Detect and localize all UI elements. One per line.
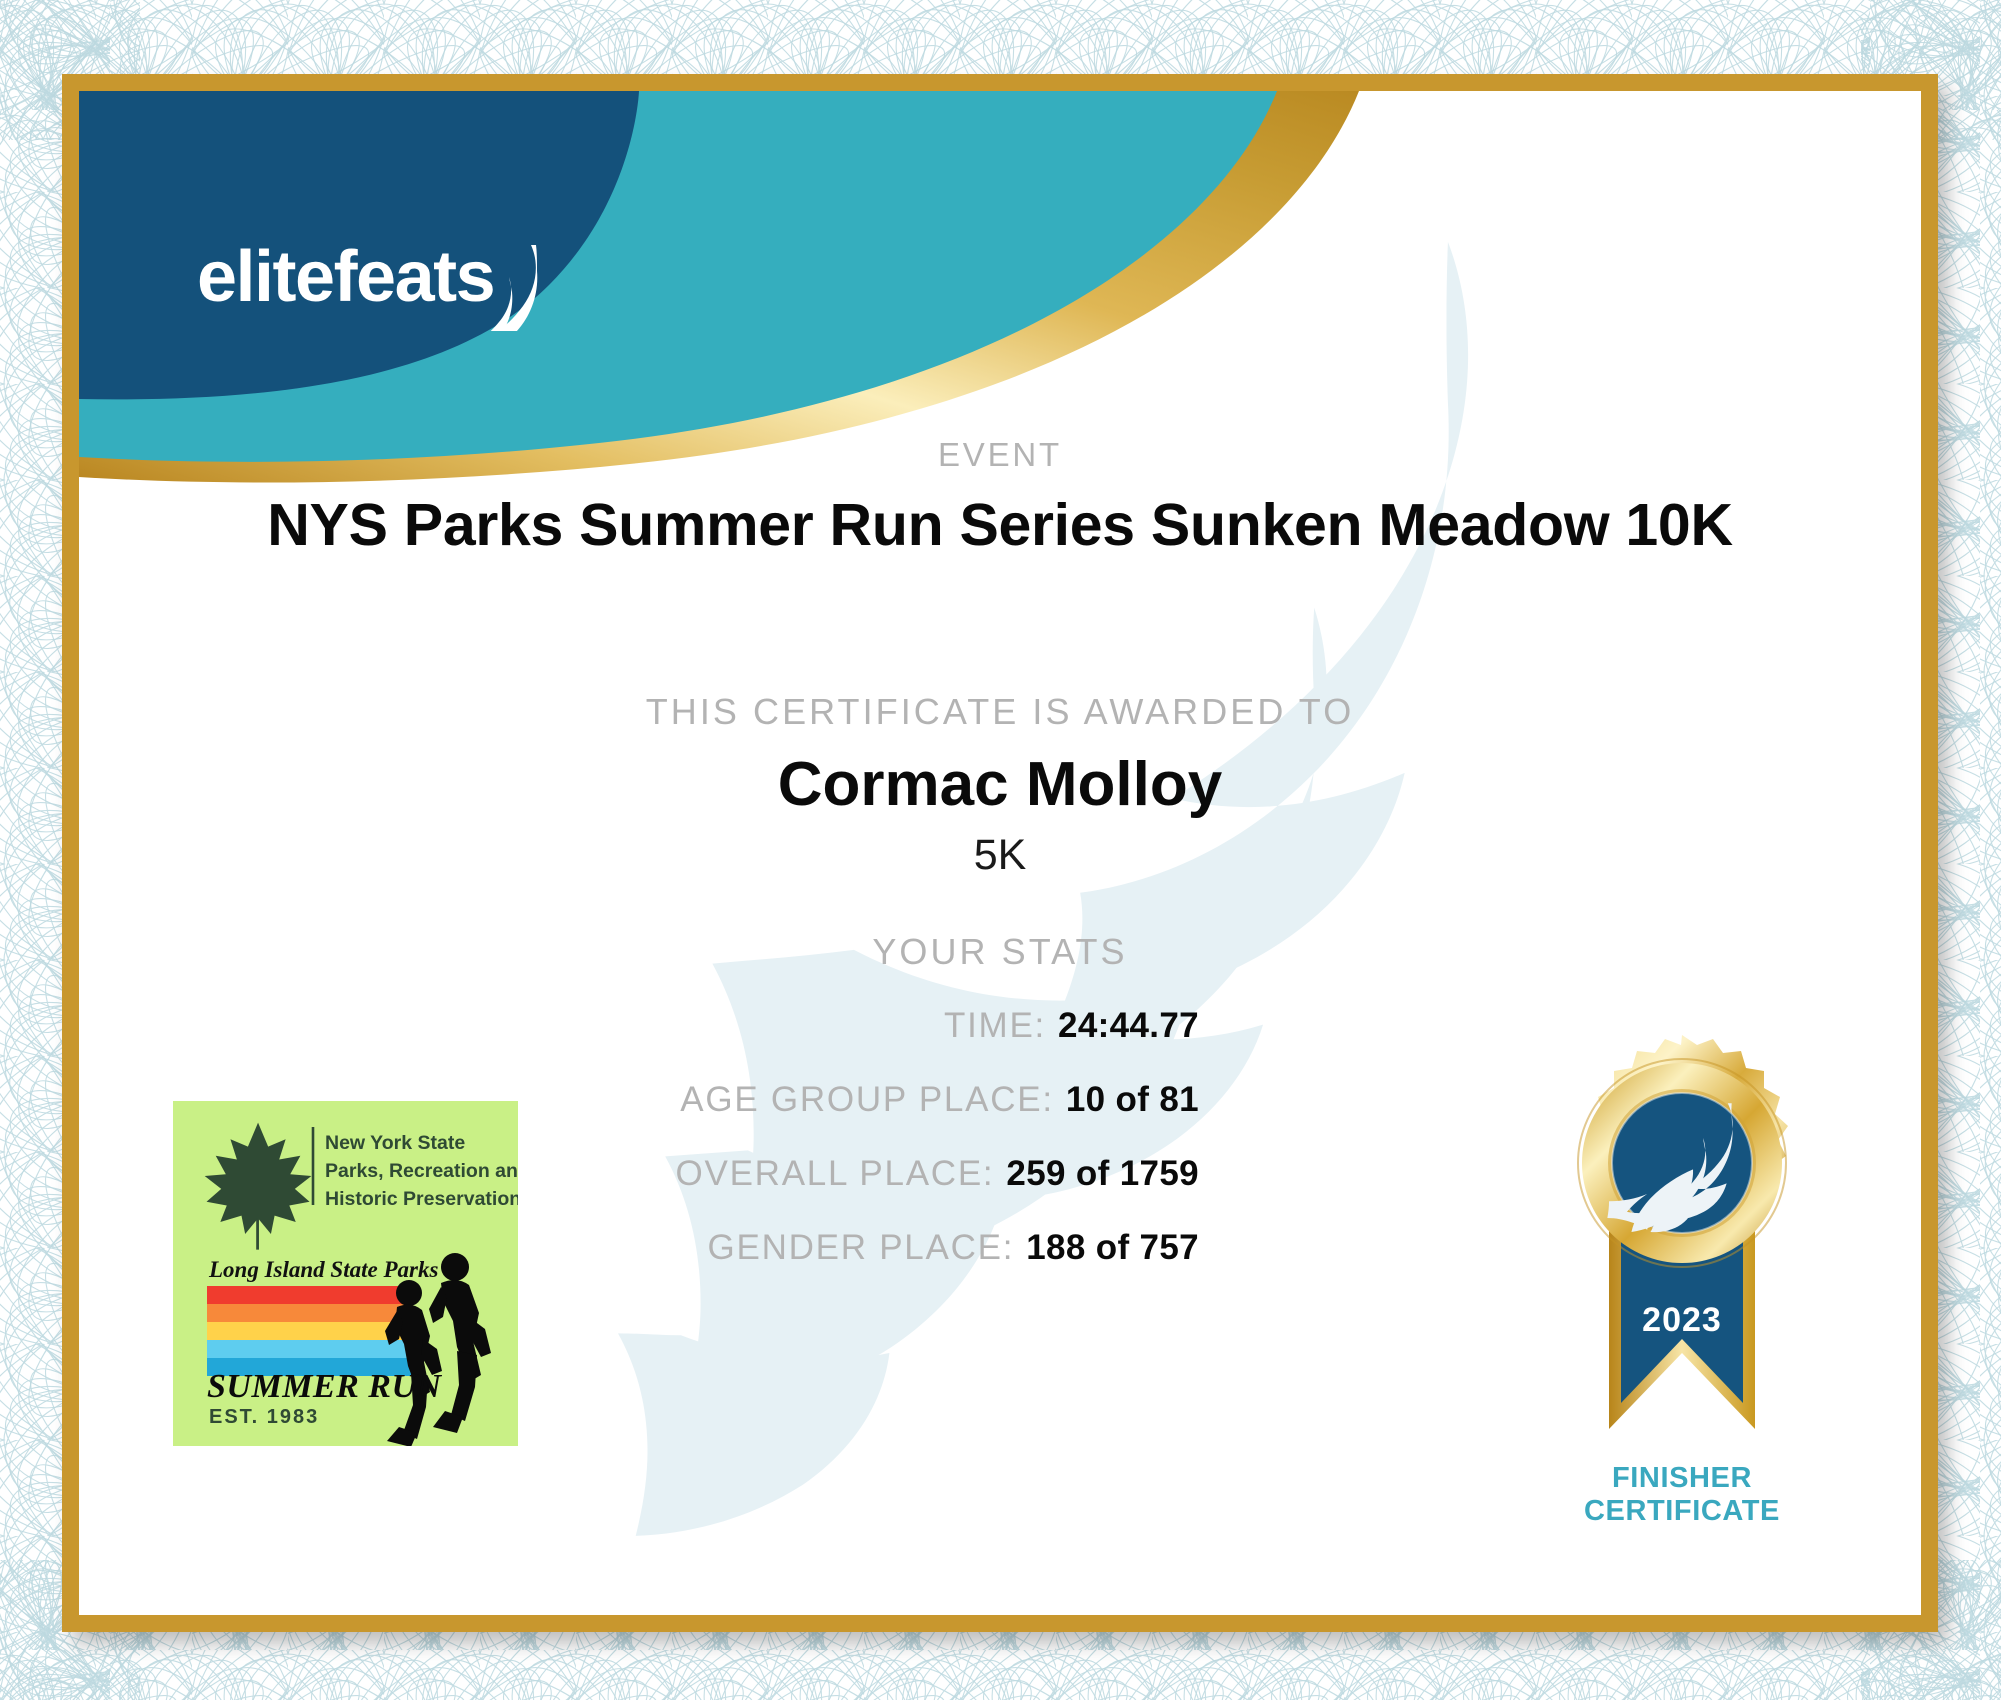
agency-line-3: Historic Preservation (325, 1188, 518, 1210)
stat-label: TIME: (944, 1006, 1046, 1046)
sponsor-logo: New York State Parks, Recreation and His… (173, 1101, 518, 1446)
rainbow-stripes (207, 1286, 413, 1376)
finisher-medal: 2023 (1527, 1031, 1837, 1529)
certificate-card: elitefeats EVENT NYS Parks Summer Run Se… (62, 74, 1938, 1632)
stat-row-time: TIME: 24:44.77 (359, 1006, 1199, 1046)
agency-line-2: Parks, Recreation and (325, 1160, 518, 1182)
race-distance: 5K (79, 831, 1921, 880)
your-stats-label: YOUR STATS (79, 931, 1921, 973)
program-title: Long Island State Parks (208, 1257, 438, 1282)
stat-label: OVERALL PLACE: (676, 1154, 995, 1194)
established-text: EST. 1983 (209, 1406, 319, 1428)
stat-value: 188 of 757 (1026, 1228, 1199, 1268)
certificate-page: elitefeats EVENT NYS Parks Summer Run Se… (0, 0, 2001, 1700)
stat-value: 24:44.77 (1058, 1006, 1199, 1046)
finisher-line-1: FINISHER (1527, 1462, 1837, 1495)
medal-year: 2023 (1642, 1301, 1722, 1339)
stat-label: AGE GROUP PLACE: (680, 1080, 1054, 1120)
event-title: NYS Parks Summer Run Series Sunken Meado… (79, 491, 1921, 559)
stat-value: 259 of 1759 (1006, 1154, 1199, 1194)
finisher-caption: FINISHER CERTIFICATE (1527, 1462, 1837, 1529)
finisher-line-2: CERTIFICATE (1527, 1495, 1837, 1528)
event-label: EVENT (79, 436, 1921, 474)
medal-graphic: 2023 (1527, 1031, 1837, 1451)
program-name: SUMMER RUN (207, 1368, 443, 1405)
stat-label: GENDER PLACE: (708, 1228, 1015, 1268)
recipient-name: Cormac Molloy (79, 749, 1921, 820)
stat-value: 10 of 81 (1066, 1080, 1199, 1120)
agency-line-1: New York State (325, 1132, 465, 1154)
certificate-content: EVENT NYS Parks Summer Run Series Sunken… (79, 91, 1921, 1615)
certificate-inner: elitefeats EVENT NYS Parks Summer Run Se… (79, 91, 1921, 1615)
awarded-to-label: THIS CERTIFICATE IS AWARDED TO (79, 691, 1921, 733)
